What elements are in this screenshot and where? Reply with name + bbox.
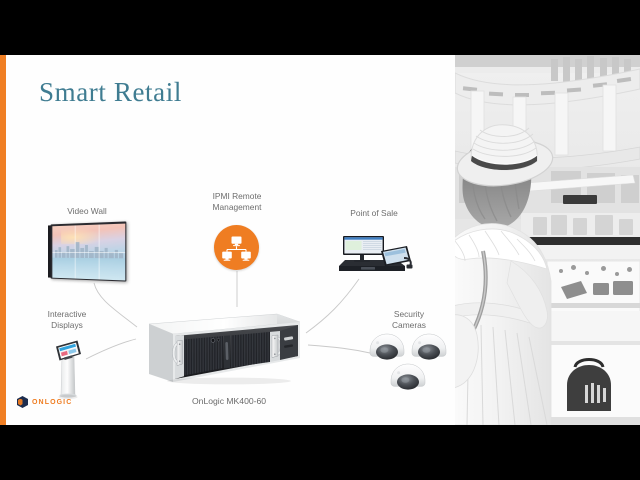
node-label-point-of-sale: Point of Sale: [328, 208, 420, 219]
dome-camera-icon: [368, 331, 450, 393]
rackmount-server-icon: [137, 308, 302, 386]
node-label-video-wall: Video Wall: [42, 206, 132, 217]
kiosk-icon: [50, 333, 84, 401]
node-label-ipmi-remote: IPMI Remote Management: [192, 191, 282, 213]
video-player-stage: Smart Retail Video Wall: [0, 0, 640, 480]
ipmi-network-icon: [214, 225, 259, 270]
presentation-slide: Smart Retail Video Wall: [0, 55, 640, 425]
onlogic-wordmark: ONLOGIC: [32, 399, 72, 406]
page-title: Smart Retail: [39, 77, 182, 108]
video-wall-icon: [51, 221, 127, 281]
server-caption: OnLogic MK400-60: [192, 396, 266, 406]
pos-terminal-icon: [331, 230, 416, 278]
node-label-interactive-displays: Interactive Displays: [23, 309, 111, 331]
onlogic-hex-icon: [17, 396, 28, 408]
slide-content-panel: Smart Retail Video Wall: [6, 55, 455, 425]
onlogic-logo: ONLOGIC: [17, 396, 72, 408]
node-label-security-cameras: Security Cameras: [370, 309, 448, 331]
retail-photo: [455, 55, 640, 425]
